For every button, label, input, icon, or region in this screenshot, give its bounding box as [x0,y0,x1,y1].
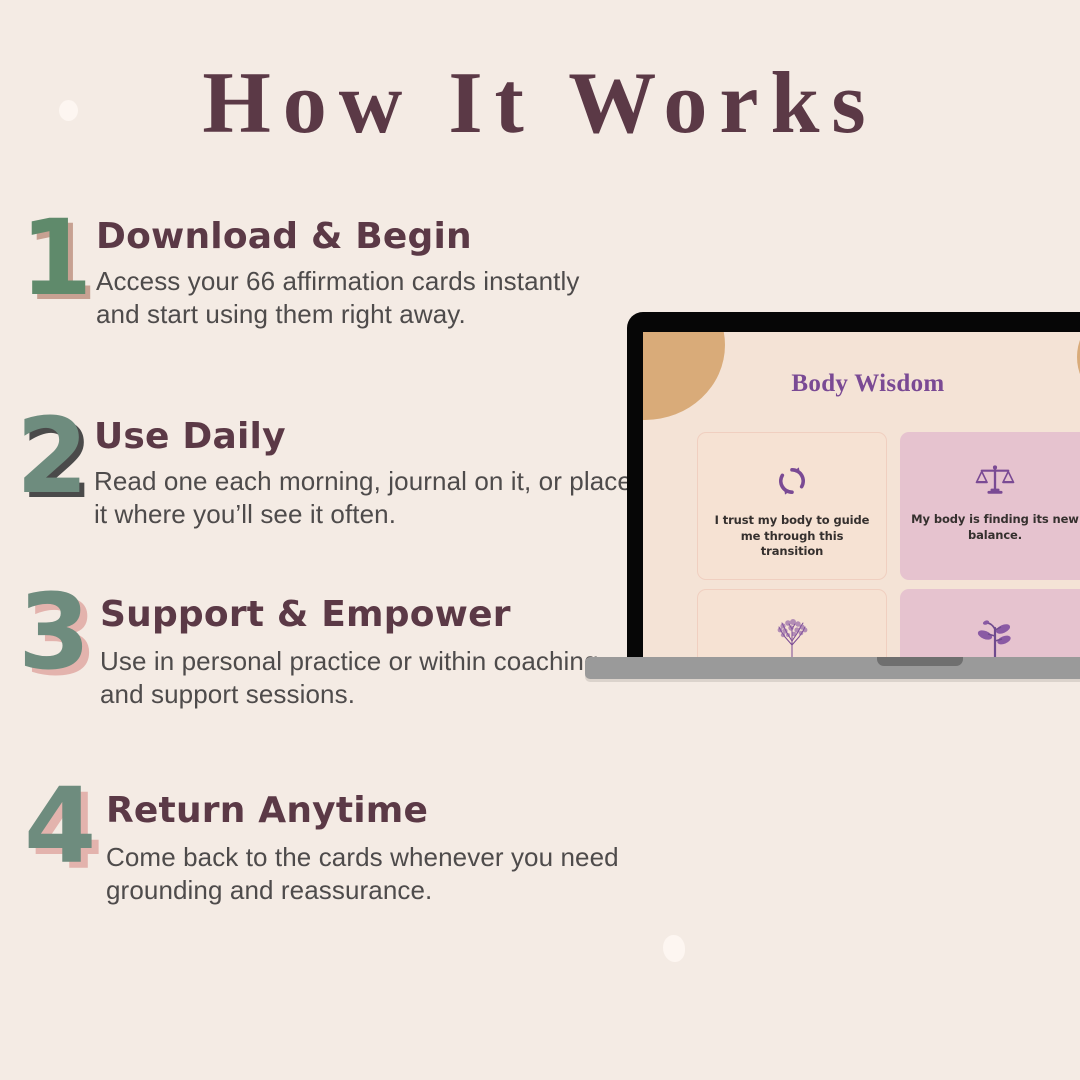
step-number-1: 1 [20,206,92,310]
step-title-3: Support & Empower [100,594,630,635]
screen-heading: Body Wisdom [643,370,1080,398]
step-description-1: Access your 66 affirmation cards instant… [96,265,616,331]
affirmation-card-text: I trust my body to guide me through this… [708,513,876,560]
laptop-mockup: Body Wisdom I trust my body to guide me … [627,312,1080,692]
decorative-dot-bottom [663,935,685,962]
affirmation-card[interactable] [900,589,1080,660]
balance-scales-icon [975,458,1015,502]
step-title-4: Return Anytime [106,790,666,831]
cycle-arrows-icon [775,459,809,503]
affirmation-card[interactable] [697,589,887,660]
laptop-screen: Body Wisdom I trust my body to guide me … [643,332,1080,660]
page-title: How It Works [0,58,1080,150]
laptop-base [585,657,1080,679]
step-content-1: Download & Begin Access your 66 affirmat… [96,216,616,331]
step-number-2: 2 [16,404,88,508]
affirmation-card[interactable]: I trust my body to guide me through this… [697,432,887,580]
laptop-hinge-notch [877,657,963,666]
step-number-4: 4 [24,774,96,878]
step-content-2: Use Daily Read one each morning, journal… [94,416,634,531]
step-number-3: 3 [18,580,90,684]
step-description-4: Come back to the cards whenever you need… [106,841,666,907]
affirmation-card-text: My body is finding its new balance. [910,512,1080,543]
step-content-3: Support & Empower Use in personal practi… [100,594,630,711]
affirmation-card[interactable]: My body is finding its new balance. [900,432,1080,580]
tree-icon [772,616,812,660]
sprout-icon [976,615,1014,659]
step-description-3: Use in personal practice or within coach… [100,645,630,711]
step-title-1: Download & Begin [96,216,616,257]
step-description-2: Read one each morning, journal on it, or… [94,465,634,531]
step-content-4: Return Anytime Come back to the cards wh… [106,790,666,907]
laptop-lid: Body Wisdom I trust my body to guide me … [627,312,1080,660]
affirmation-card-grid: I trust my body to guide me through this… [697,432,1080,660]
step-title-2: Use Daily [94,416,634,457]
